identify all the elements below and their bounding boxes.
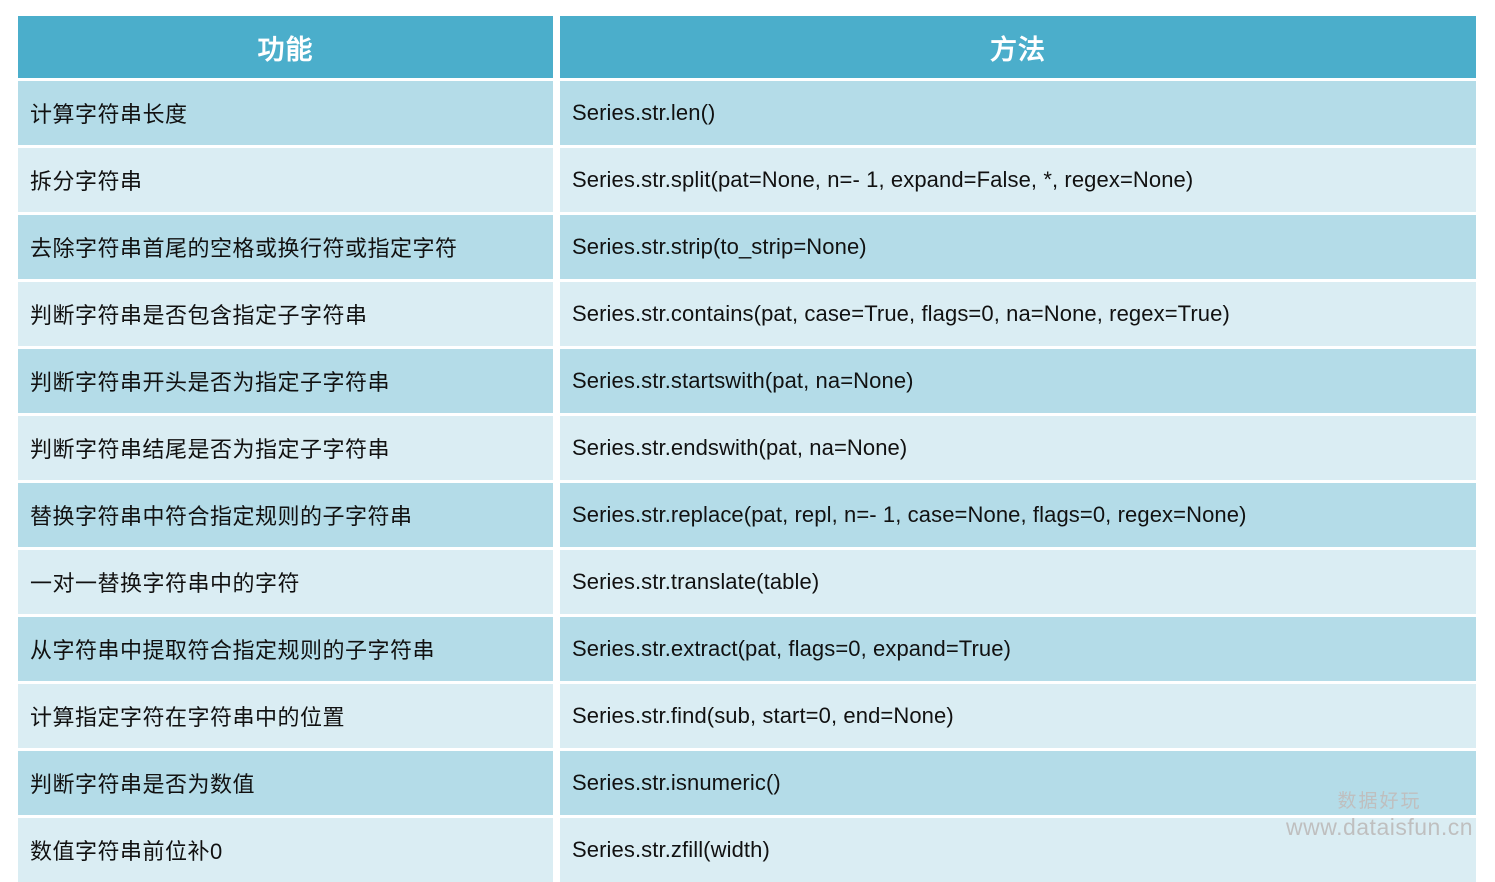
cell-function: 计算字符串长度 <box>18 81 560 148</box>
cell-method: Series.str.len() <box>560 81 1476 148</box>
cell-method: Series.str.isnumeric() <box>560 751 1476 818</box>
table-row: 判断字符串是否包含指定子字符串Series.str.contains(pat, … <box>18 282 1476 349</box>
cell-function: 判断字符串是否为数值 <box>18 751 560 818</box>
cell-method: Series.str.strip(to_strip=None) <box>560 215 1476 282</box>
table-header: 功能 方法 <box>18 16 1476 81</box>
table-row: 计算指定字符在字符串中的位置Series.str.find(sub, start… <box>18 684 1476 751</box>
pandas-string-methods-table: 功能 方法 计算字符串长度Series.str.len()拆分字符串Series… <box>18 16 1476 882</box>
cell-function: 判断字符串结尾是否为指定子字符串 <box>18 416 560 483</box>
cell-method: Series.str.startswith(pat, na=None) <box>560 349 1476 416</box>
cell-function: 拆分字符串 <box>18 148 560 215</box>
cell-function: 去除字符串首尾的空格或换行符或指定字符 <box>18 215 560 282</box>
cell-method: Series.str.contains(pat, case=True, flag… <box>560 282 1476 349</box>
cell-method: Series.str.replace(pat, repl, n=- 1, cas… <box>560 483 1476 550</box>
table-row: 计算字符串长度Series.str.len() <box>18 81 1476 148</box>
table-row: 一对一替换字符串中的字符Series.str.translate(table) <box>18 550 1476 617</box>
cell-function: 数值字符串前位补0 <box>18 818 560 882</box>
column-header-method: 方法 <box>560 16 1476 81</box>
methods-table-container: 功能 方法 计算字符串长度Series.str.len()拆分字符串Series… <box>18 16 1476 852</box>
table-row: 从字符串中提取符合指定规则的子字符串Series.str.extract(pat… <box>18 617 1476 684</box>
cell-function: 从字符串中提取符合指定规则的子字符串 <box>18 617 560 684</box>
table-header-row: 功能 方法 <box>18 16 1476 81</box>
cell-function: 判断字符串开头是否为指定子字符串 <box>18 349 560 416</box>
cell-method: Series.str.endswith(pat, na=None) <box>560 416 1476 483</box>
table-row: 去除字符串首尾的空格或换行符或指定字符Series.str.strip(to_s… <box>18 215 1476 282</box>
table-row: 判断字符串开头是否为指定子字符串Series.str.startswith(pa… <box>18 349 1476 416</box>
cell-function: 一对一替换字符串中的字符 <box>18 550 560 617</box>
cell-function: 计算指定字符在字符串中的位置 <box>18 684 560 751</box>
cell-function: 替换字符串中符合指定规则的子字符串 <box>18 483 560 550</box>
table-body: 计算字符串长度Series.str.len()拆分字符串Series.str.s… <box>18 81 1476 882</box>
table-row: 判断字符串结尾是否为指定子字符串Series.str.endswith(pat,… <box>18 416 1476 483</box>
cell-method: Series.str.extract(pat, flags=0, expand=… <box>560 617 1476 684</box>
table-row: 拆分字符串Series.str.split(pat=None, n=- 1, e… <box>18 148 1476 215</box>
cell-method: Series.str.zfill(width) <box>560 818 1476 882</box>
cell-method: Series.str.find(sub, start=0, end=None) <box>560 684 1476 751</box>
table-row: 数值字符串前位补0Series.str.zfill(width) <box>18 818 1476 882</box>
column-header-function: 功能 <box>18 16 560 81</box>
table-row: 判断字符串是否为数值Series.str.isnumeric() <box>18 751 1476 818</box>
table-row: 替换字符串中符合指定规则的子字符串Series.str.replace(pat,… <box>18 483 1476 550</box>
cell-method: Series.str.split(pat=None, n=- 1, expand… <box>560 148 1476 215</box>
cell-function: 判断字符串是否包含指定子字符串 <box>18 282 560 349</box>
cell-method: Series.str.translate(table) <box>560 550 1476 617</box>
